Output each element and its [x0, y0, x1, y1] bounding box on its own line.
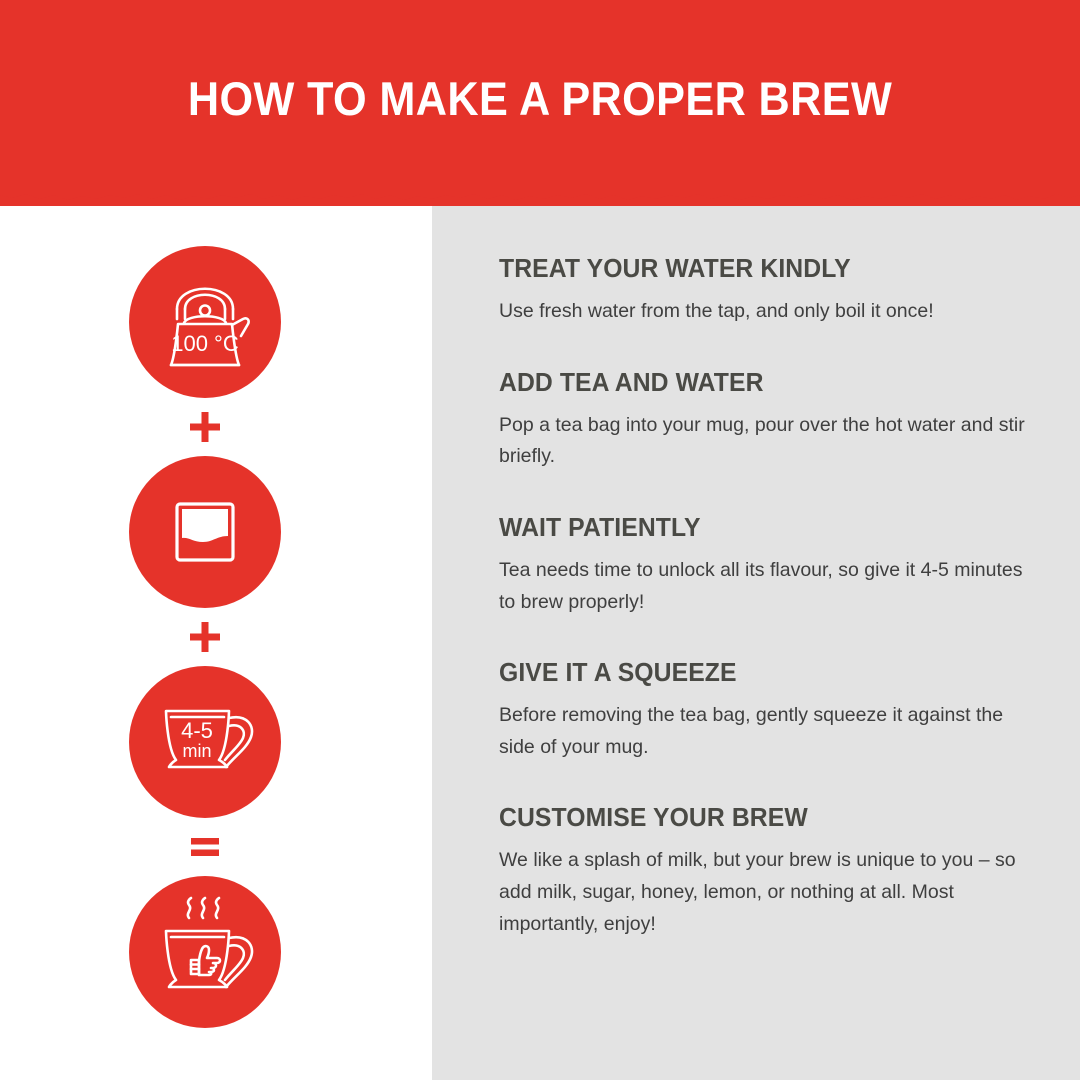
step-heading: WAIT PATIENTLY [499, 513, 1028, 543]
brew-time-value: 4-5 [181, 718, 213, 743]
step-body: Pop a tea bag into your mug, pour over t… [499, 410, 1034, 473]
icon-rail: 100 °C [129, 246, 281, 1028]
teacup-timer-icon: 4-5 min [129, 666, 281, 818]
tea-bag-icon [129, 456, 281, 608]
step-heading: ADD TEA AND WATER [499, 368, 1028, 398]
step-heading: TREAT YOUR WATER KINDLY [499, 254, 1028, 284]
step-item: WAIT PATIENTLY Tea needs time to unlock … [499, 513, 1044, 618]
step-item: ADD TEA AND WATER Pop a tea bag into you… [499, 368, 1044, 473]
equals-connector [129, 818, 281, 876]
step-item: TREAT YOUR WATER KINDLY Use fresh water … [499, 254, 1044, 328]
step-body: Tea needs time to unlock all its flavour… [499, 555, 1034, 618]
step-item: CUSTOMISE YOUR BREW We like a splash of … [499, 803, 1044, 940]
step-heading: CUSTOMISE YOUR BREW [499, 803, 1028, 833]
step-heading: GIVE IT A SQUEEZE [499, 658, 1028, 688]
equals-icon [189, 835, 221, 859]
infographic-page: HOW TO MAKE A PROPER BREW [0, 0, 1080, 1080]
step-item: GIVE IT A SQUEEZE Before removing the te… [499, 658, 1044, 763]
step-body: We like a splash of milk, but your brew … [499, 845, 1034, 940]
brew-time-unit: min [182, 741, 211, 761]
plus-connector-2 [129, 608, 281, 666]
header-banner: HOW TO MAKE A PROPER BREW [0, 0, 1080, 206]
steaming-mug-thumbs-up-icon [129, 876, 281, 1028]
steps-list: TREAT YOUR WATER KINDLY Use fresh water … [499, 254, 1044, 940]
step-body: Use fresh water from the tap, and only b… [499, 296, 1034, 328]
kettle-icon: 100 °C [129, 246, 281, 398]
page-title: HOW TO MAKE A PROPER BREW [43, 0, 1037, 196]
plus-icon [189, 411, 221, 443]
kettle-temperature-label: 100 °C [171, 331, 239, 356]
plus-connector-1 [129, 398, 281, 456]
plus-icon [189, 621, 221, 653]
step-body: Before removing the tea bag, gently sque… [499, 700, 1034, 763]
